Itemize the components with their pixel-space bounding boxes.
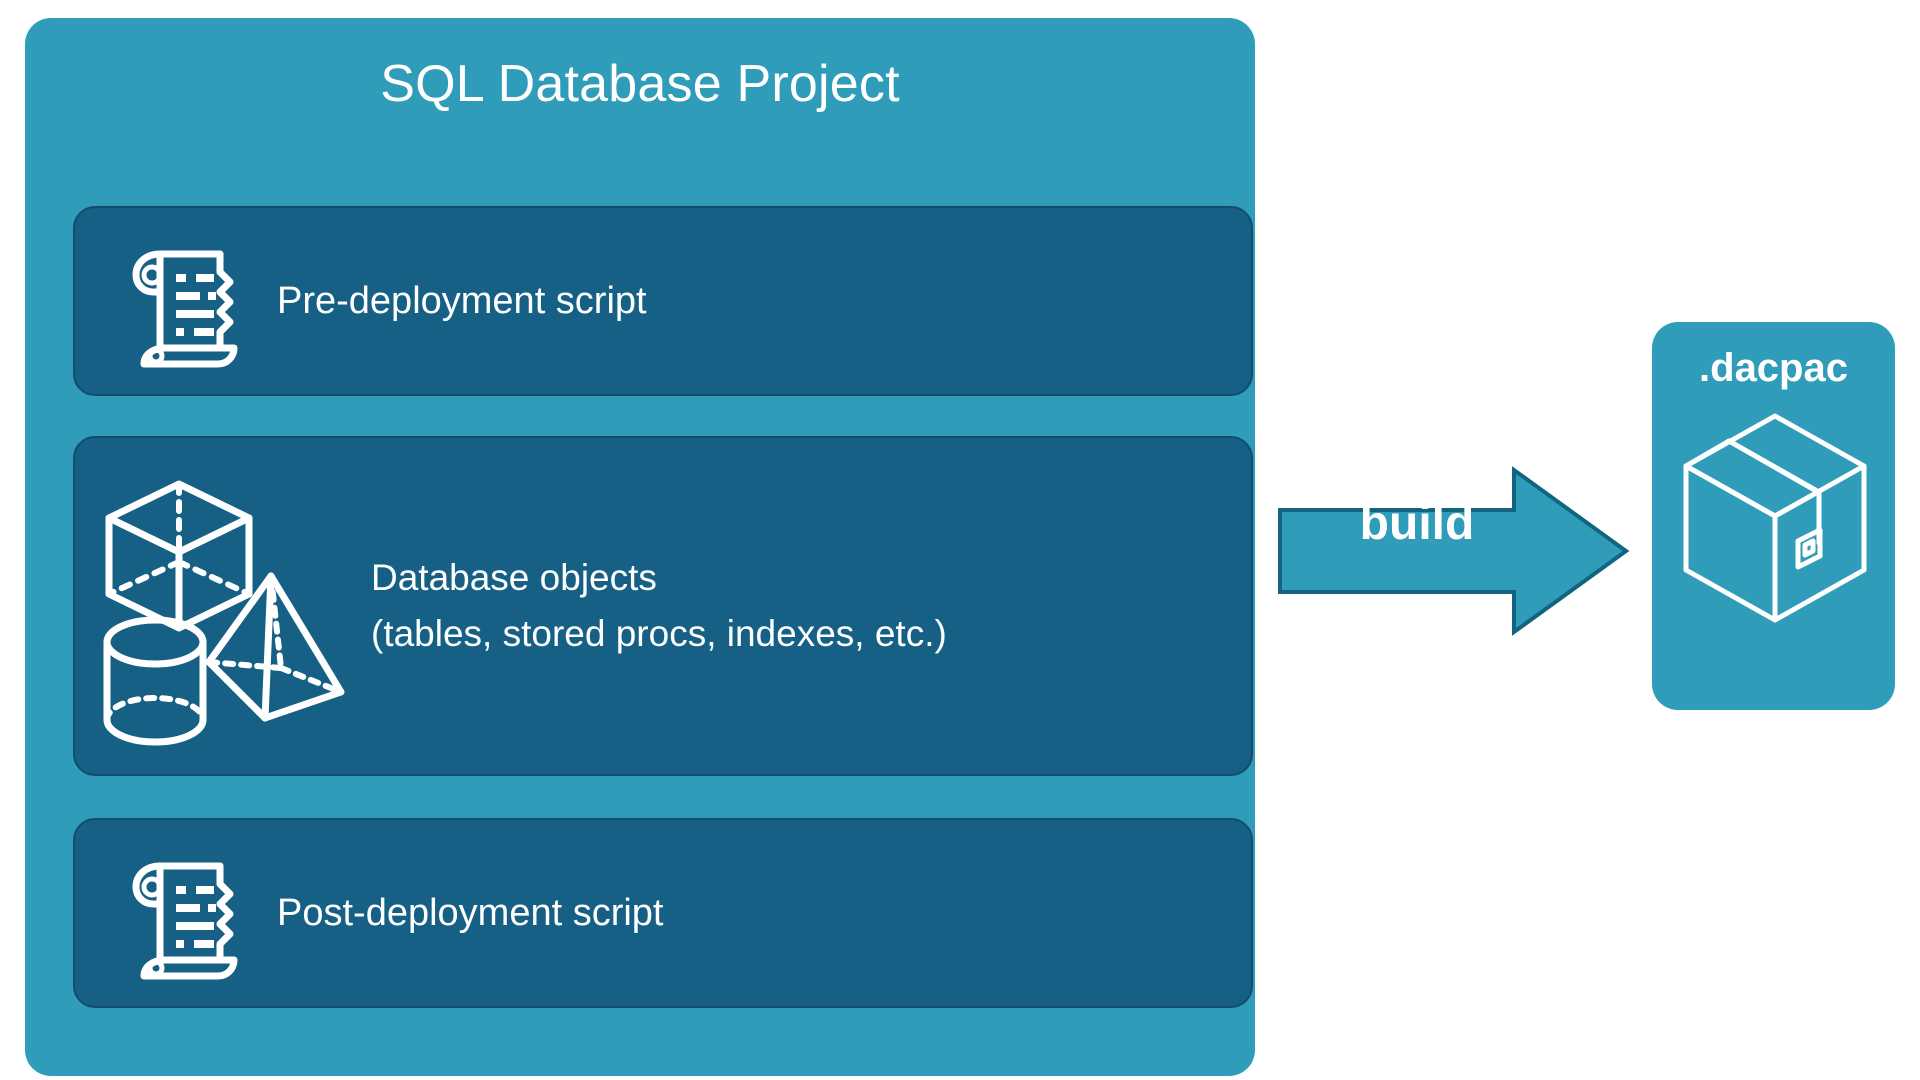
diagram-canvas: SQL Database Project [0,0,1920,1080]
dacpac-title: .dacpac [1652,344,1895,392]
card-pre-deployment-script: Pre-deployment script [73,206,1253,396]
scroll-icon [87,236,277,366]
build-arrow [1278,468,1628,634]
package-box-icon [1680,410,1870,625]
dacpac-output-panel: .dacpac [1652,322,1895,710]
sql-database-project-panel: SQL Database Project [25,18,1255,1076]
card-label-database-objects: Database objects (tables, stored procs, … [371,550,947,662]
scroll-icon [87,848,277,978]
project-title: SQL Database Project [25,54,1255,114]
card-database-objects: Database objects (tables, stored procs, … [73,436,1253,776]
database-objects-icon-group [81,466,371,746]
card-label-pre-deployment: Pre-deployment script [277,274,647,328]
card-post-deployment-script: Post-deployment script [73,818,1253,1008]
card-label-post-deployment: Post-deployment script [277,886,664,940]
